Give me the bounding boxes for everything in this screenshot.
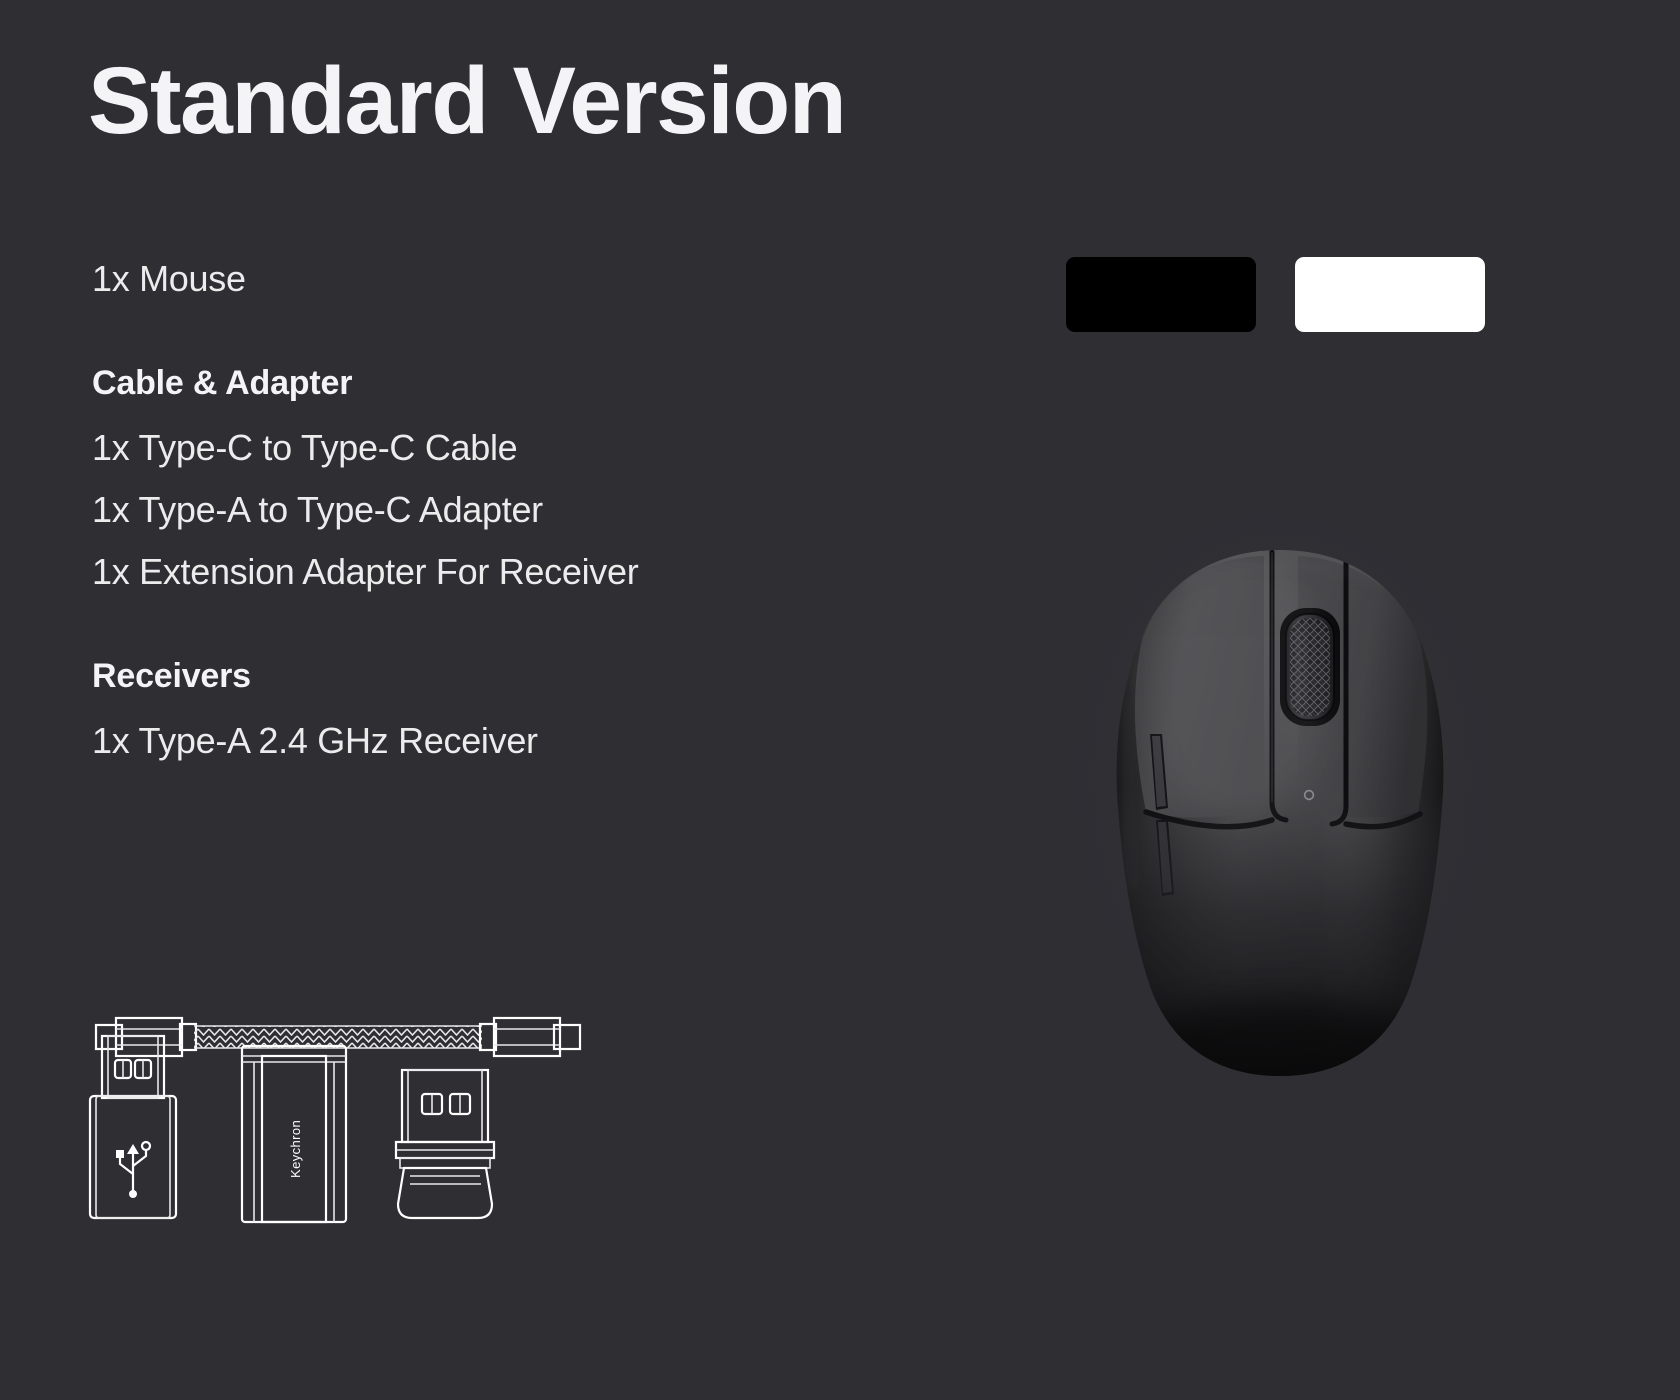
spec-list: 1x Mouse Cable & Adapter 1x Type-C to Ty…: [92, 248, 912, 772]
color-swatch-group: [1066, 257, 1485, 332]
accessory-icon-row: Keychron: [84, 1028, 524, 1228]
spec-line-extension-adapter: 1x Extension Adapter For Receiver: [92, 541, 912, 603]
spec-line-receiver: 1x Type-A 2.4 GHz Receiver: [92, 710, 912, 772]
page-title: Standard Version: [88, 52, 845, 152]
spec-line-mouse: 1x Mouse: [92, 248, 912, 310]
spec-line-type-c-cable: 1x Type-C to Type-C Cable: [92, 417, 912, 479]
group-heading-cable-adapter: Cable & Adapter: [92, 364, 912, 403]
group-heading-receivers: Receivers: [92, 657, 912, 696]
spec-line-type-a-adapter: 1x Type-A to Type-C Adapter: [92, 479, 912, 541]
type-a-receiver-dongle-icon: [396, 1070, 494, 1218]
extension-adapter-brand-label: Keychron: [288, 1120, 303, 1178]
extension-adapter-icon: Keychron: [242, 1046, 346, 1222]
black-swatch[interactable]: [1066, 257, 1256, 332]
type-a-to-type-c-adapter-icon: [90, 1036, 176, 1218]
spec-group-mouse: 1x Mouse: [92, 248, 912, 310]
white-swatch[interactable]: [1295, 257, 1485, 332]
spec-group-cable-adapter: Cable & Adapter 1x Type-C to Type-C Cabl…: [92, 364, 912, 603]
spec-group-receivers: Receivers 1x Type-A 2.4 GHz Receiver: [92, 657, 912, 772]
wireless-mouse-image: [1050, 490, 1510, 1120]
